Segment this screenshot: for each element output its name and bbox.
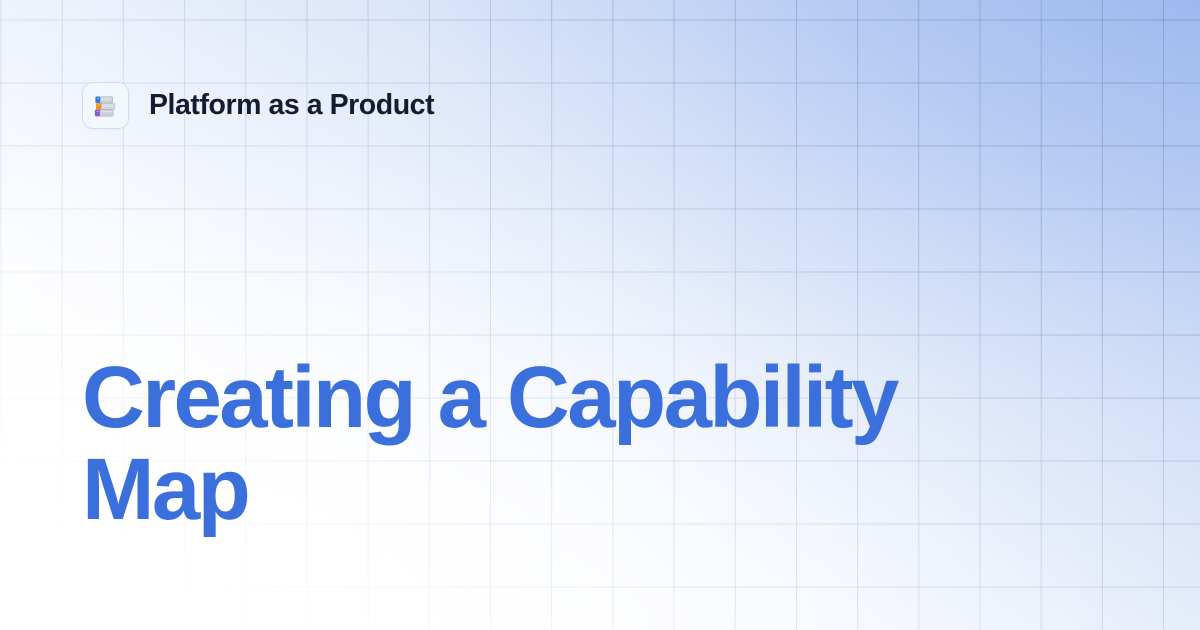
brand-row: Platform as a Product [82, 82, 434, 129]
brand-name: Platform as a Product [149, 91, 434, 120]
books-emoji-icon [91, 91, 120, 120]
card-content: Platform as a Product Creating a Capabil… [0, 0, 1200, 630]
og-social-card: Platform as a Product Creating a Capabil… [0, 0, 1200, 630]
brand-icon-tile [82, 82, 129, 129]
page-title: Creating a Capability Map [82, 352, 1082, 536]
